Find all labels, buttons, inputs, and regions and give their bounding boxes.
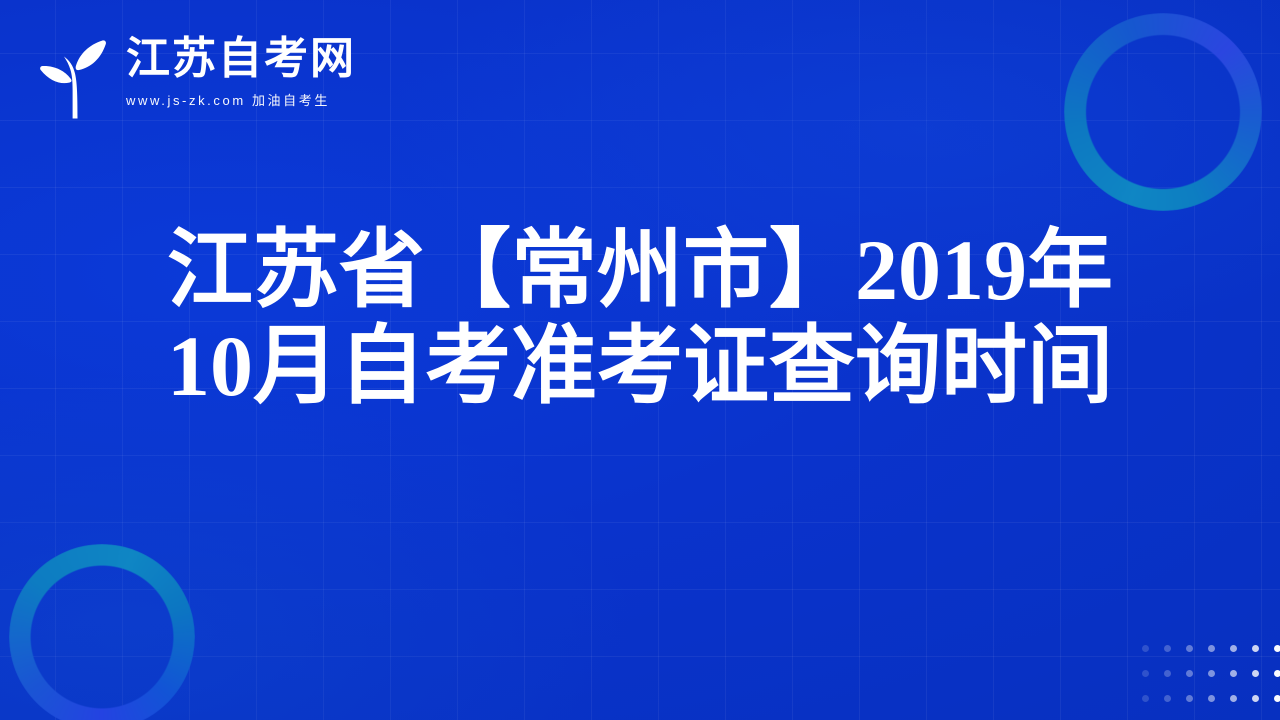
dot	[1208, 670, 1215, 677]
dot	[1186, 645, 1193, 652]
dot	[1164, 670, 1171, 677]
logo-tagline: www.js-zk.com 加油自考生	[126, 90, 356, 109]
dot	[1186, 695, 1193, 702]
sprout-icon	[32, 24, 116, 120]
dot	[1252, 695, 1259, 702]
dot	[1230, 645, 1237, 652]
dot	[1164, 695, 1171, 702]
logo-title: 江苏自考网	[126, 35, 356, 83]
poster-canvas: 江苏自考网 www.js-zk.com 加油自考生 江苏省【常州市】2019年1…	[0, 0, 1280, 720]
dot	[1230, 670, 1237, 677]
dot	[1208, 695, 1215, 702]
site-logo[interactable]: 江苏自考网 www.js-zk.com 加油自考生	[32, 24, 356, 120]
dot	[1230, 695, 1237, 702]
dot	[1252, 670, 1259, 677]
page-title: 江苏省【常州市】2019年10月自考准考证查询时间	[0, 222, 1280, 414]
decorative-ring-bottom-left	[9, 544, 195, 720]
ring-gradient-stroke	[9, 544, 195, 720]
dot	[1142, 670, 1149, 677]
dot	[1142, 645, 1149, 652]
dot	[1186, 670, 1193, 677]
dot	[1164, 645, 1171, 652]
logo-text-block: 江苏自考网 www.js-zk.com 加油自考生	[126, 35, 356, 109]
decorative-dot-grid	[1134, 636, 1280, 711]
dot	[1208, 645, 1215, 652]
dot	[1274, 670, 1280, 677]
decorative-ring-top-right	[1064, 13, 1262, 211]
dot	[1252, 645, 1259, 652]
dot	[1274, 695, 1280, 702]
dot	[1274, 645, 1280, 652]
ring-gradient-stroke	[1064, 13, 1262, 211]
dot	[1142, 695, 1149, 702]
